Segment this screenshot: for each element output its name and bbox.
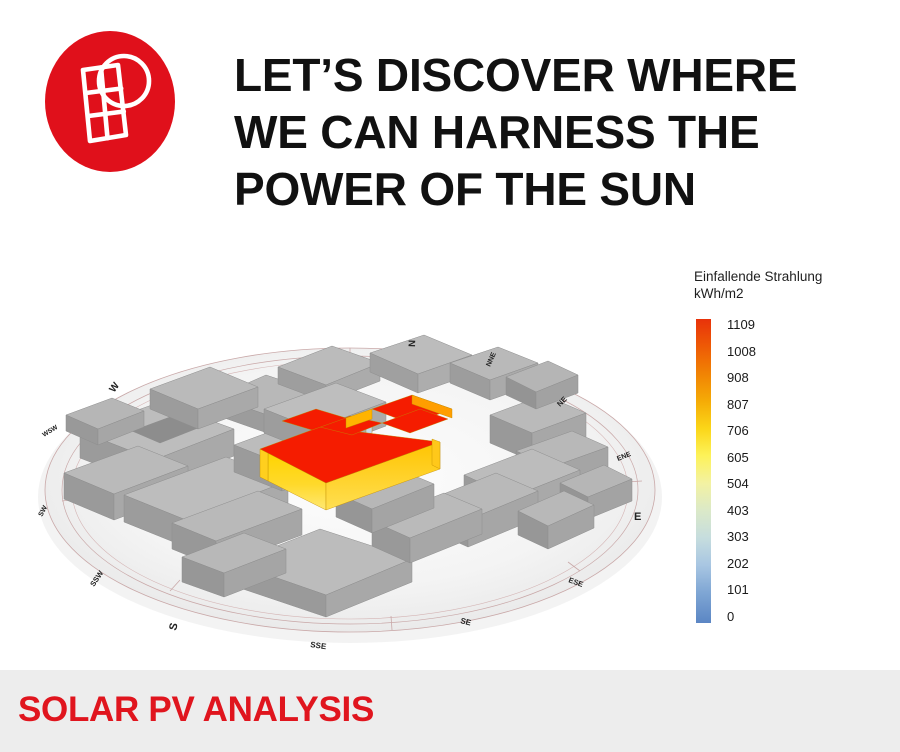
- tick-label: 1109: [727, 312, 817, 339]
- facade-orange-3: [432, 439, 440, 469]
- tick-label: 807: [727, 392, 817, 419]
- legend: Einfallende Strahlung kWh/m2 1109 1008 9…: [694, 268, 894, 629]
- footer-band: SOLAR PV ANALYSIS: [0, 670, 900, 752]
- compass-label-N: N: [407, 340, 418, 347]
- legend-title: Einfallende Strahlung kWh/m2: [694, 268, 894, 302]
- visualization-section: N NNE NE ENE E ESE SE SSE S SSW SW WSW W…: [0, 250, 900, 670]
- tick-label: 706: [727, 418, 817, 445]
- headline-line-2: WE CAN HARNESS THE: [234, 104, 874, 161]
- slide-root: LET’S DISCOVER WHERE WE CAN HARNESS THE …: [0, 0, 900, 752]
- legend-body: 1109 1008 908 807 706 605 504 403 303 20…: [694, 319, 874, 629]
- compass-label-W: W: [108, 380, 123, 395]
- footer-title: SOLAR PV ANALYSIS: [18, 690, 374, 730]
- colorbar-tick-labels: 1109 1008 908 807 706 605 504 403 303 20…: [727, 312, 817, 630]
- headline-line-1: LET’S DISCOVER WHERE: [234, 47, 874, 104]
- tick-label: 1008: [727, 339, 817, 366]
- 3d-city-model[interactable]: N NNE NE ENE E ESE SE SSE S SSW SW WSW W: [20, 305, 680, 655]
- compass-label-S: S: [167, 622, 180, 632]
- tick-label: 908: [727, 365, 817, 392]
- colorbar: [696, 319, 711, 623]
- header-section: LET’S DISCOVER WHERE WE CAN HARNESS THE …: [0, 0, 900, 250]
- compass-label-E: E: [634, 511, 641, 523]
- solar-panel-sun-icon: [45, 31, 175, 172]
- compass-label-SSE: SSE: [310, 640, 328, 651]
- tick-label: 101: [727, 577, 817, 604]
- tick-label: 403: [727, 498, 817, 525]
- headline-line-3: POWER OF THE SUN: [234, 161, 874, 218]
- facade-west: [260, 449, 268, 481]
- compass-label-WSW: WSW: [41, 424, 60, 439]
- page-title: LET’S DISCOVER WHERE WE CAN HARNESS THE …: [234, 47, 874, 218]
- tick-label: 303: [727, 524, 817, 551]
- tick-label: 202: [727, 551, 817, 578]
- tick-label: 0: [727, 604, 817, 631]
- tick-label: 605: [727, 445, 817, 472]
- tick-label: 504: [727, 471, 817, 498]
